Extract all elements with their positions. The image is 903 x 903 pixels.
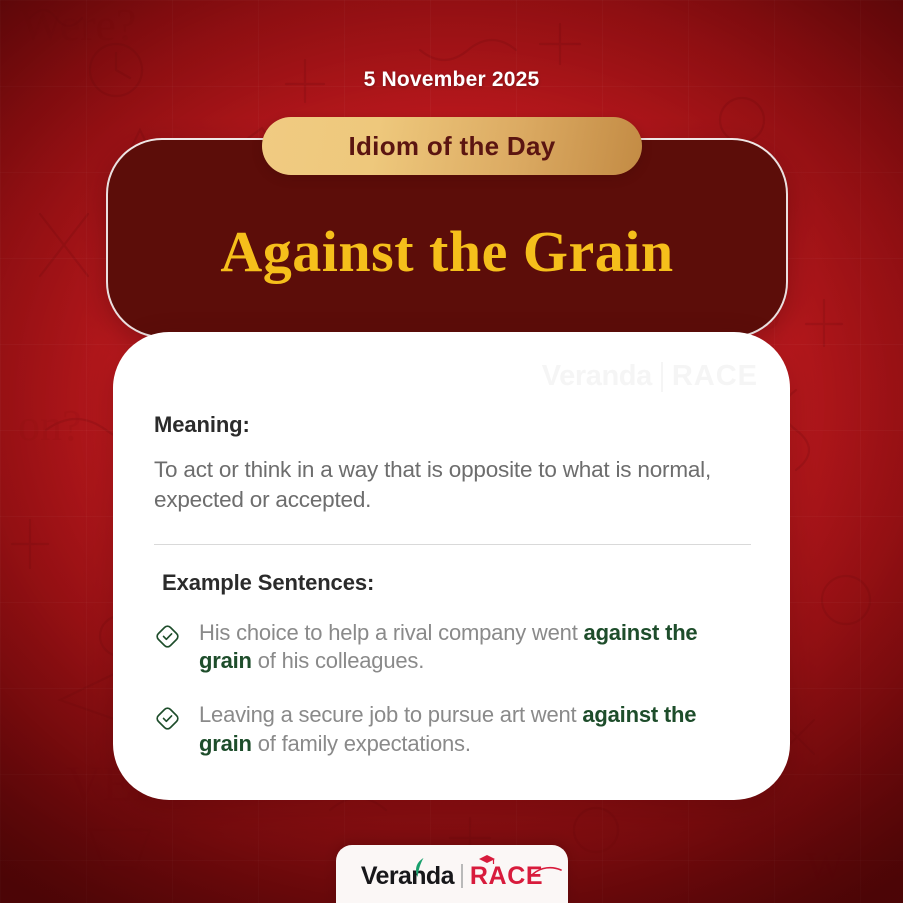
- check-diamond-icon: [154, 705, 181, 732]
- check-diamond-icon: [154, 623, 181, 650]
- poster-canvas: Were? on? VERB RD A W 5 November 2025 Id…: [0, 0, 903, 903]
- idiom-of-the-day-badge: Idiom of the Day: [262, 117, 642, 175]
- meaning-heading: Meaning:: [154, 412, 754, 438]
- watermark-logo: Veranda RACE: [542, 360, 758, 393]
- section-divider: [154, 544, 751, 545]
- example-text-after: of family expectations.: [252, 731, 471, 756]
- meaning-text: To act or think in a way that is opposit…: [154, 455, 754, 515]
- watermark-brand: Veranda: [542, 360, 652, 393]
- example-sentence-list: His choice to help a rival company went …: [154, 619, 754, 758]
- example-sentence-text: Leaving a secure job to pursue art went …: [199, 701, 754, 758]
- footer-sub-brand: RACE: [470, 862, 543, 891]
- example-text-before: Leaving a secure job to pursue art went: [199, 702, 582, 727]
- list-item: Leaving a secure job to pursue art went …: [154, 701, 754, 758]
- watermark-sub-brand: RACE: [672, 360, 758, 393]
- example-sentence-text: His choice to help a rival company went …: [199, 619, 754, 676]
- date-label: 5 November 2025: [0, 68, 903, 92]
- content-card: Veranda RACE Meaning: To act or think in…: [113, 332, 790, 800]
- card-content: Meaning: To act or think in a way that i…: [154, 412, 754, 783]
- footer-logo-bar: Veranda RACE: [336, 845, 568, 903]
- examples-heading: Example Sentences:: [162, 570, 754, 596]
- footer-logo-separator: [461, 864, 463, 888]
- idiom-title: Against the Grain: [106, 218, 788, 285]
- list-item: His choice to help a rival company went …: [154, 619, 754, 676]
- footer-brand: Veranda: [361, 862, 454, 891]
- example-text-after: of his colleagues.: [252, 648, 424, 673]
- badge-label: Idiom of the Day: [348, 131, 555, 162]
- example-text-before: His choice to help a rival company went: [199, 620, 584, 645]
- watermark-separator: [661, 362, 663, 392]
- footer-logo: Veranda RACE: [361, 862, 543, 891]
